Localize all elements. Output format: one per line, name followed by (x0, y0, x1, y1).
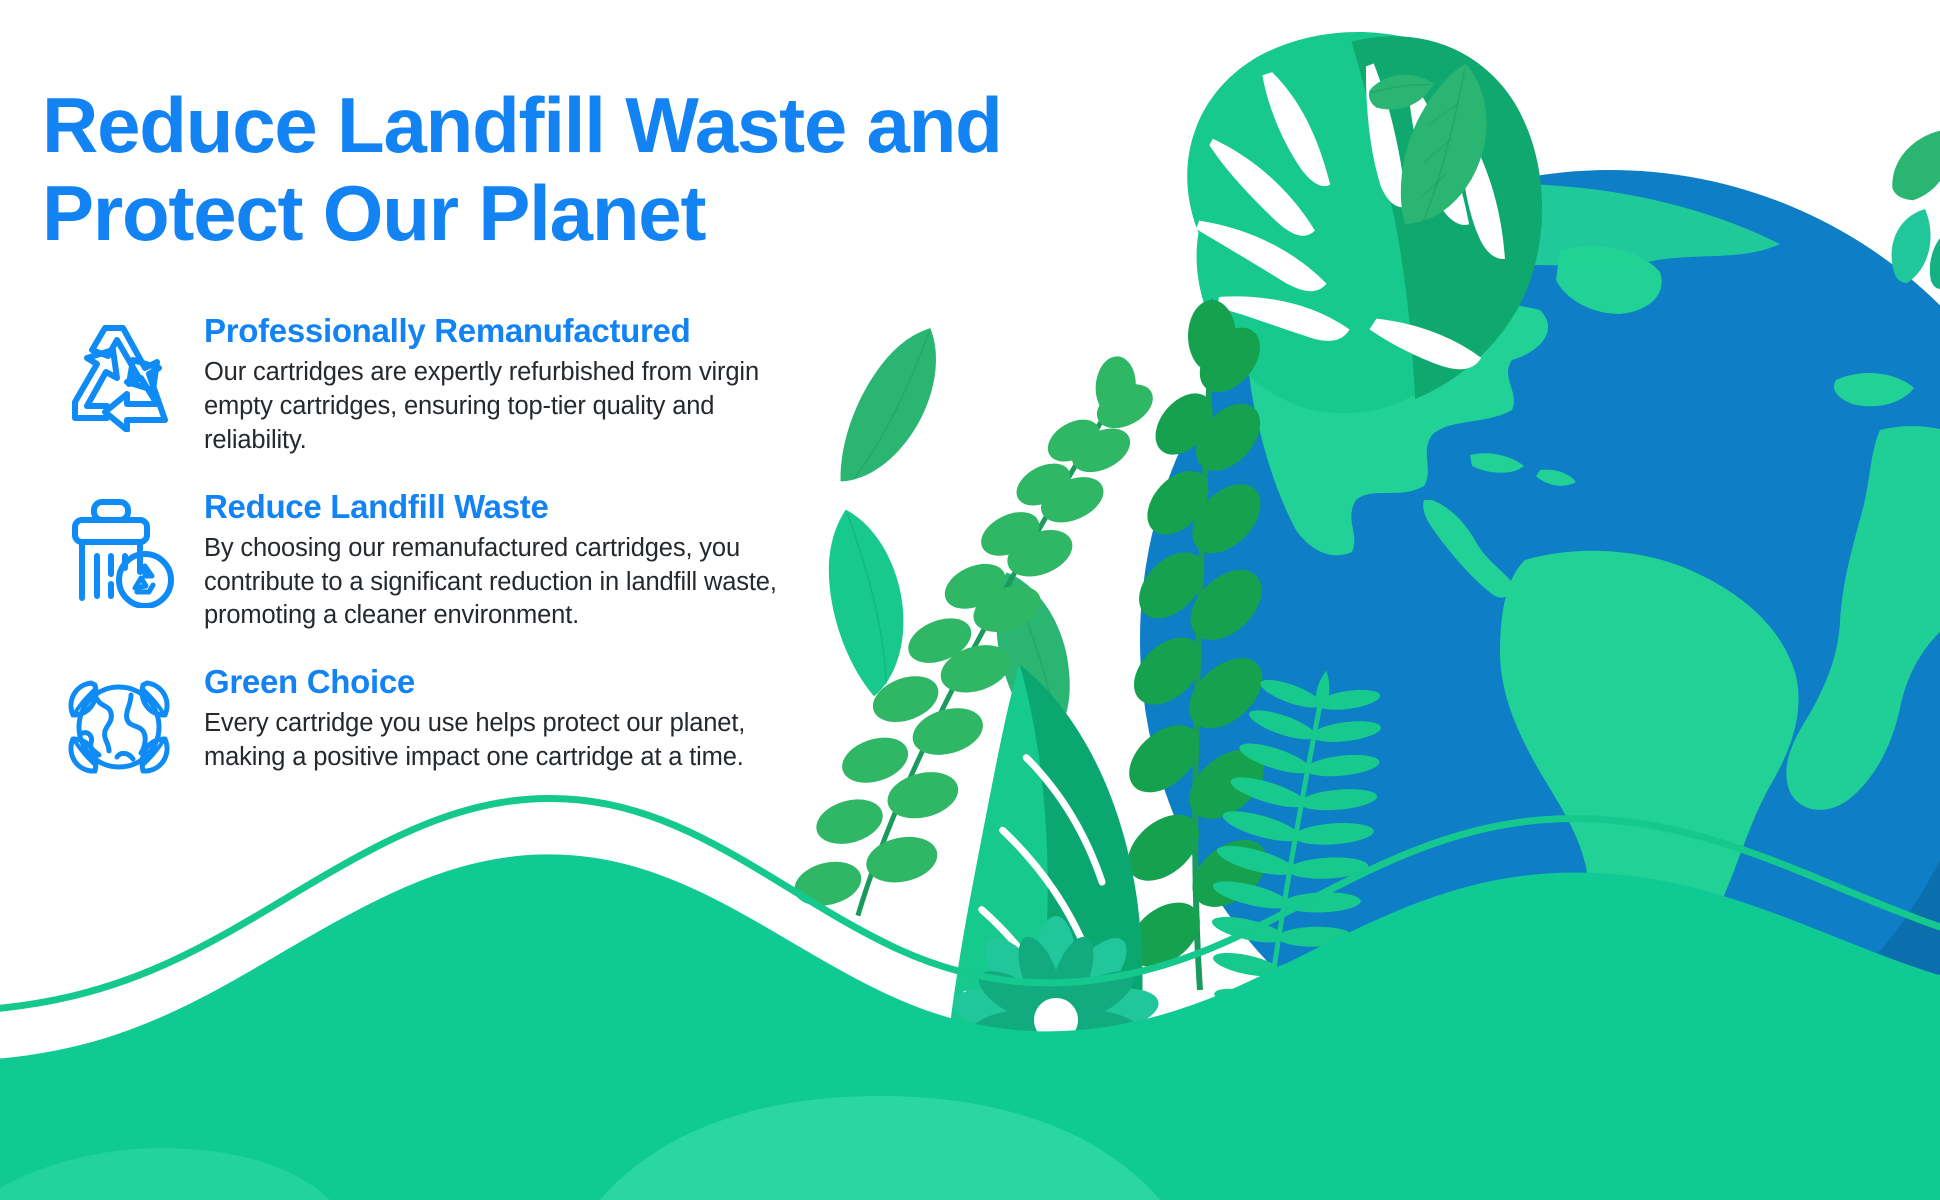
feature-item-reduce-landfill-waste: Reduce Landfill Waste By choosing our re… (44, 488, 844, 634)
headline-line-2: Protect Our Planet (42, 170, 1382, 257)
star-accent (1195, 298, 1229, 331)
floating-leaf-medium (1393, 56, 1497, 235)
feature-text: By choosing our remanufactured cartridge… (204, 532, 844, 634)
recycle-arrows-icon (44, 312, 194, 448)
floating-leaf-right-edge (1880, 127, 1940, 205)
earth-globe (1070, 140, 1940, 1120)
leaf-cluster-top-right (1892, 209, 1940, 289)
trash-bin-recycle-icon (44, 488, 194, 624)
fern-frond (1188, 661, 1392, 1131)
feature-body: Reduce Landfill Waste By choosing our re… (194, 488, 844, 634)
feature-item-professionally-remanufactured: Professionally Remanufactured Our cartri… (44, 312, 844, 458)
page-title: Reduce Landfill Waste and Protect Our Pl… (42, 82, 1382, 257)
feature-item-green-choice: Green Choice Every cartridge you use hel… (44, 663, 844, 799)
feature-title: Reduce Landfill Waste (204, 488, 844, 526)
feature-title: Professionally Remanufactured (204, 312, 844, 350)
feature-body: Professionally Remanufactured Our cartri… (194, 312, 844, 458)
banner-canvas: Reduce Landfill Waste and Protect Our Pl… (0, 0, 1940, 1200)
feature-list: Professionally Remanufactured Our cartri… (44, 312, 844, 829)
sprig-branch-tall (1115, 300, 1279, 990)
feature-text: Our cartridges are expertly refurbished … (204, 356, 804, 458)
feature-title: Green Choice (204, 663, 844, 701)
headline-line-1: Reduce Landfill Waste and (42, 81, 1002, 169)
feature-body: Green Choice Every cartridge you use hel… (194, 663, 844, 775)
feature-text: Every cartridge you use helps protect ou… (204, 707, 804, 775)
globe-leaves-icon (44, 663, 194, 799)
content-column: Reduce Landfill Waste and Protect Our Pl… (0, 0, 1060, 1200)
